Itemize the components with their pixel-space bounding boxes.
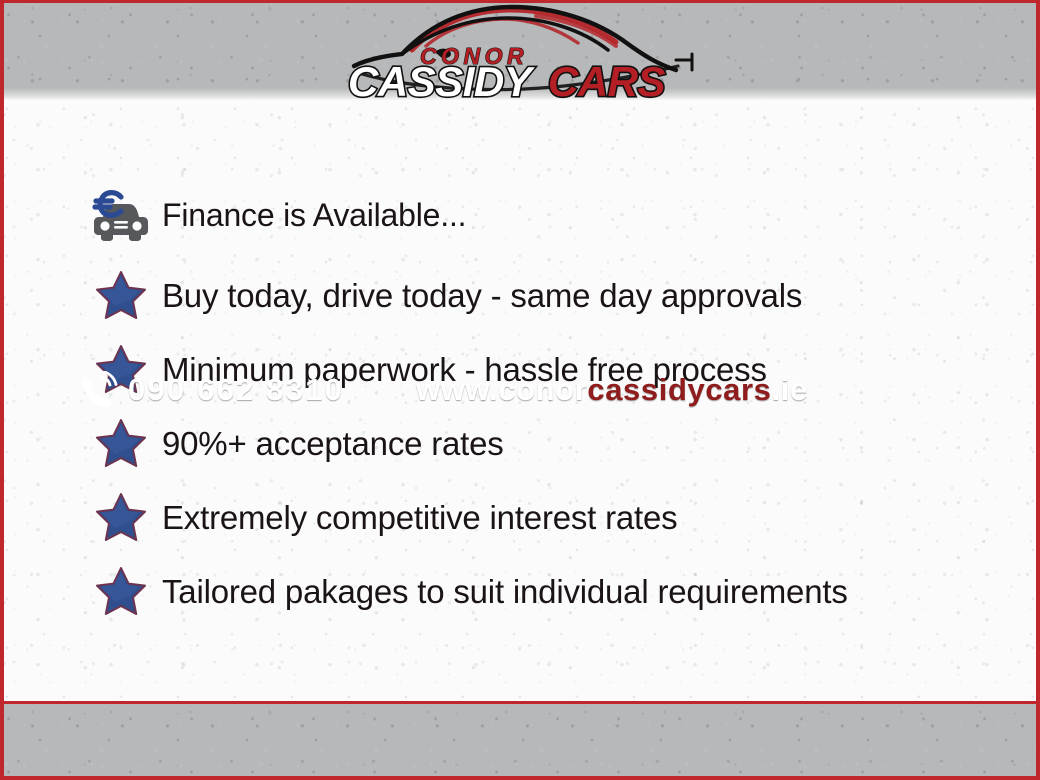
website-brand: cassidycars — [587, 372, 771, 408]
website-suffix: .ie — [772, 372, 808, 408]
phone-number: 090 662 8310 — [128, 372, 344, 408]
website-prefix: www.conor — [416, 372, 587, 408]
phone-ringing-icon — [78, 371, 118, 409]
phone-contact[interactable]: 090 662 8310 — [78, 371, 344, 409]
advert-poster: CONOR CASSIDY CARS — [0, 0, 1040, 780]
footer-contact-bar: 090 662 8310 www.conor cassidycars .ie — [0, 0, 1040, 780]
website-url[interactable]: www.conor cassidycars .ie — [416, 372, 808, 408]
